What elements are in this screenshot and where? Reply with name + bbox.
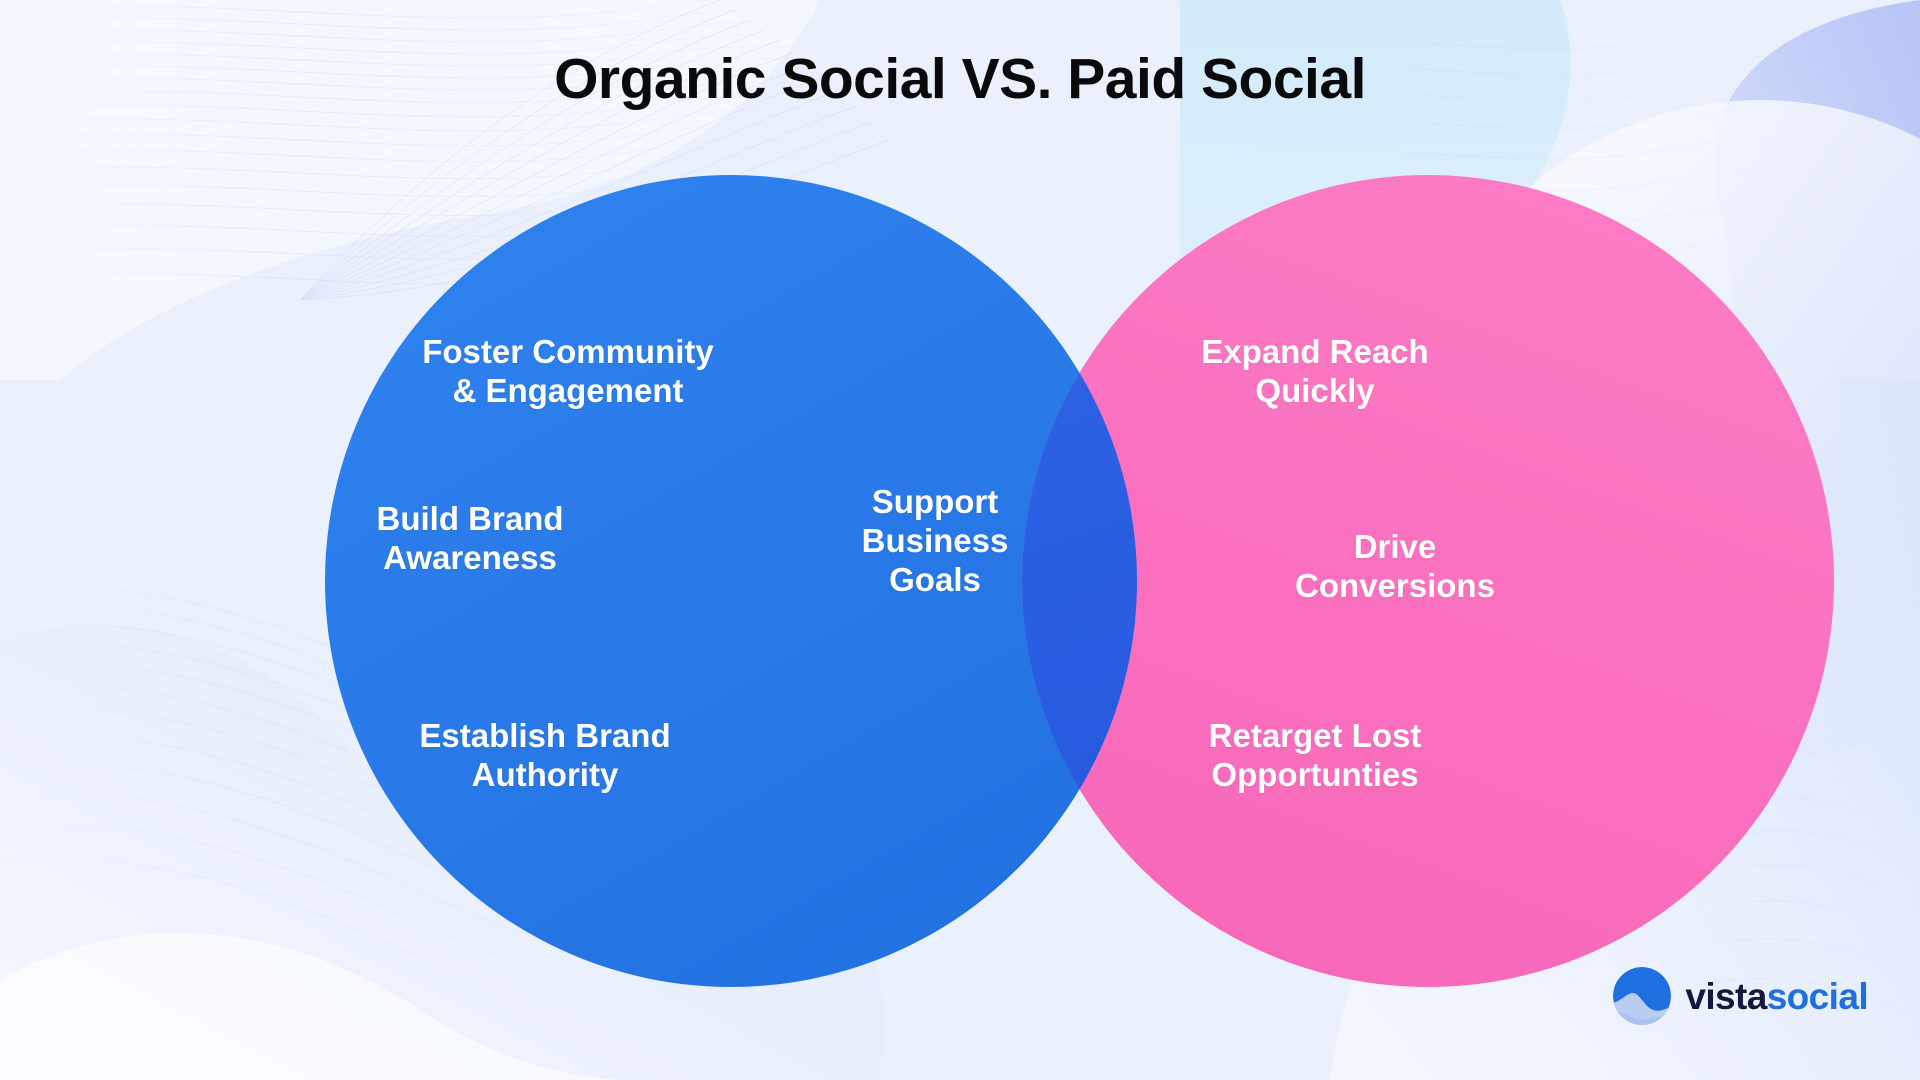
venn-item-foster-community: Foster Community & Engagement	[368, 333, 768, 411]
venn-item-establish-brand-authority: Establish Brand Authority	[345, 717, 745, 795]
infographic-canvas: Organic Social VS. Paid Social Foster Co…	[0, 0, 1920, 1080]
venn-item-retarget-lost-opportunities: Retarget Lost Opportunties	[1135, 717, 1495, 795]
logo-mark-svg	[1613, 967, 1671, 1025]
venn-item-drive-conversions: Drive Conversions	[1215, 528, 1575, 606]
venn-item-build-brand-awareness: Build Brand Awareness	[305, 500, 635, 578]
vista-social-mountain-circle-icon	[1613, 967, 1671, 1025]
logo-word-social: social	[1767, 976, 1868, 1017]
venn-item-support-business-goals: Support Business Goals	[810, 483, 1060, 600]
page-title: Organic Social VS. Paid Social	[0, 46, 1920, 112]
vista-social-logo[interactable]: vistasocial	[1613, 967, 1868, 1025]
venn-diagram: Foster Community & Engagement Build Bran…	[0, 0, 1920, 1080]
venn-item-expand-reach-quickly: Expand Reach Quickly	[1135, 333, 1495, 411]
logo-wordmark: vistasocial	[1685, 978, 1868, 1015]
logo-word-vista: vista	[1685, 976, 1766, 1017]
